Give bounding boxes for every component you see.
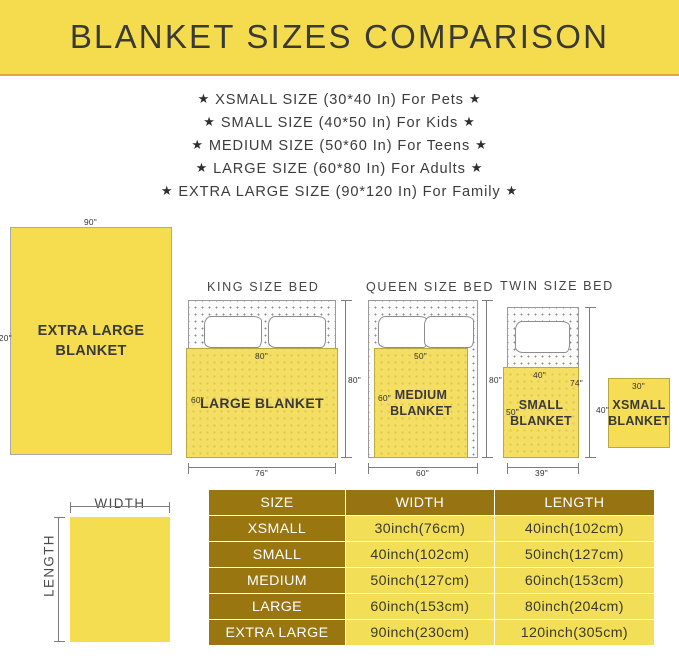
blanket-diagram-area: EXTRA LARGE BLANKET 90" 120" KING SIZE B… [0, 215, 679, 485]
list-item: ★ LARGE SIZE (60*80 In) For Adults ★ [196, 157, 484, 180]
small-blanket-label: SMALL BLANKET [510, 397, 572, 429]
cell-width: 90inch(230cm) [346, 620, 494, 645]
size-chart-table: SIZE WIDTH LENGTH XSMALL 30inch(76cm) 40… [208, 489, 655, 646]
cell-size: EXTRA LARGE [209, 620, 345, 645]
large-blanket-width-dim: 80" [255, 351, 268, 361]
queen-bed-caption: QUEEN SIZE BED [366, 280, 494, 294]
queen-bed-width-dim: 60" [416, 468, 429, 478]
queen-pillow-right [424, 316, 474, 348]
star-icon: ★ [463, 114, 476, 129]
cell-length: 50inch(127cm) [495, 542, 654, 567]
legend-blanket-swatch [70, 517, 170, 642]
column-header-length: LENGTH [495, 490, 654, 515]
cell-length: 120inch(305cm) [495, 620, 654, 645]
king-bed-length-dim: 80" [348, 375, 361, 385]
list-item: ★ SMALL SIZE (40*50 In) For Kids ★ [203, 111, 475, 134]
king-bed-width-dim: 76" [255, 468, 268, 478]
small-blanket-width-dim: 40" [533, 370, 546, 380]
queen-bed-length-rule [486, 300, 487, 458]
twin-bed-length-dim: 74" [570, 378, 583, 388]
cell-width: 30inch(76cm) [346, 516, 494, 541]
list-item: ★ XSMALL SIZE (30*40 In) For Pets ★ [198, 88, 482, 111]
star-icon: ★ [469, 91, 482, 106]
width-length-legend: WIDTH LENGTH [22, 486, 202, 666]
star-icon: ★ [196, 160, 209, 175]
large-blanket-shape: LARGE BLANKET [186, 348, 338, 458]
medium-blanket-length-dim: 60" [378, 393, 391, 403]
large-blanket-label: LARGE BLANKET [200, 395, 324, 412]
extra-large-length-dim: 120" [0, 333, 12, 343]
table-row: LARGE 60inch(153cm) 80inch(204cm) [209, 594, 654, 619]
cell-length: 80inch(204cm) [495, 594, 654, 619]
list-item-label: LARGE SIZE (60*80 In) For Adults [213, 161, 466, 177]
extra-large-blanket-label: EXTRA LARGE BLANKET [38, 321, 145, 361]
table-row: MEDIUM 50inch(127cm) 60inch(153cm) [209, 568, 654, 593]
king-bed-caption: KING SIZE BED [207, 280, 319, 294]
table-row: EXTRA LARGE 90inch(230cm) 120inch(305cm) [209, 620, 654, 645]
medium-blanket-width-dim: 50" [414, 351, 427, 361]
cell-size: MEDIUM [209, 568, 345, 593]
page-title: BLANKET SIZES COMPARISON [0, 0, 679, 74]
cell-width: 50inch(127cm) [346, 568, 494, 593]
table-row: XSMALL 30inch(76cm) 40inch(102cm) [209, 516, 654, 541]
cell-size: SMALL [209, 542, 345, 567]
star-icon: ★ [198, 91, 211, 106]
cell-length: 60inch(153cm) [495, 568, 654, 593]
star-icon: ★ [475, 137, 488, 152]
cell-size: LARGE [209, 594, 345, 619]
cell-length: 40inch(102cm) [495, 516, 654, 541]
list-item-label: MEDIUM SIZE (50*60 In) For Teens [209, 138, 470, 154]
legend-length-label: LENGTH [42, 524, 57, 608]
legend-width-rule [70, 506, 170, 507]
list-item-label: SMALL SIZE (40*50 In) For Kids [221, 115, 458, 131]
cell-width: 60inch(153cm) [346, 594, 494, 619]
twin-pillow [515, 321, 570, 353]
king-pillow-right [268, 316, 326, 348]
king-pillow-left [204, 316, 262, 348]
twin-bed-width-dim: 39" [535, 468, 548, 478]
medium-blanket-shape: MEDIUM BLANKET [374, 348, 468, 458]
size-bullet-list: ★ XSMALL SIZE (30*40 In) For Pets ★ ★ SM… [0, 88, 679, 203]
twin-bed-length-rule [589, 307, 590, 458]
table-header-row: SIZE WIDTH LENGTH [209, 490, 654, 515]
legend-length-rule [58, 517, 59, 642]
extra-large-width-dim: 90" [84, 217, 97, 227]
star-icon: ★ [161, 183, 174, 198]
star-icon: ★ [191, 137, 204, 152]
list-item-label: EXTRA LARGE SIZE (90*120 In) For Family [178, 184, 500, 200]
medium-blanket-label: MEDIUM BLANKET [390, 387, 452, 419]
xsmall-blanket-label: XSMALL BLANKET [608, 397, 670, 429]
xsmall-blanket-length-dim: 40" [596, 405, 609, 415]
star-icon: ★ [203, 114, 216, 129]
star-icon: ★ [506, 183, 519, 198]
column-header-size: SIZE [209, 490, 345, 515]
small-blanket-length-dim: 50" [506, 407, 519, 417]
list-item: ★ EXTRA LARGE SIZE (90*120 In) For Famil… [161, 180, 518, 203]
xsmall-blanket-width-dim: 30" [632, 381, 645, 391]
extra-large-blanket-shape: EXTRA LARGE BLANKET [10, 227, 172, 455]
list-item: ★ MEDIUM SIZE (50*60 In) For Teens ★ [191, 134, 487, 157]
column-header-width: WIDTH [346, 490, 494, 515]
queen-pillow-left [378, 316, 428, 348]
large-blanket-length-dim: 60" [191, 395, 204, 405]
legend-width-label: WIDTH [78, 496, 162, 511]
table-row: SMALL 40inch(102cm) 50inch(127cm) [209, 542, 654, 567]
list-item-label: XSMALL SIZE (30*40 In) For Pets [215, 92, 464, 108]
queen-bed-length-dim: 80" [489, 375, 502, 385]
star-icon: ★ [471, 160, 484, 175]
cell-size: XSMALL [209, 516, 345, 541]
twin-bed-caption: TWIN SIZE BED [500, 279, 614, 293]
king-bed-length-rule [345, 300, 346, 458]
cell-width: 40inch(102cm) [346, 542, 494, 567]
